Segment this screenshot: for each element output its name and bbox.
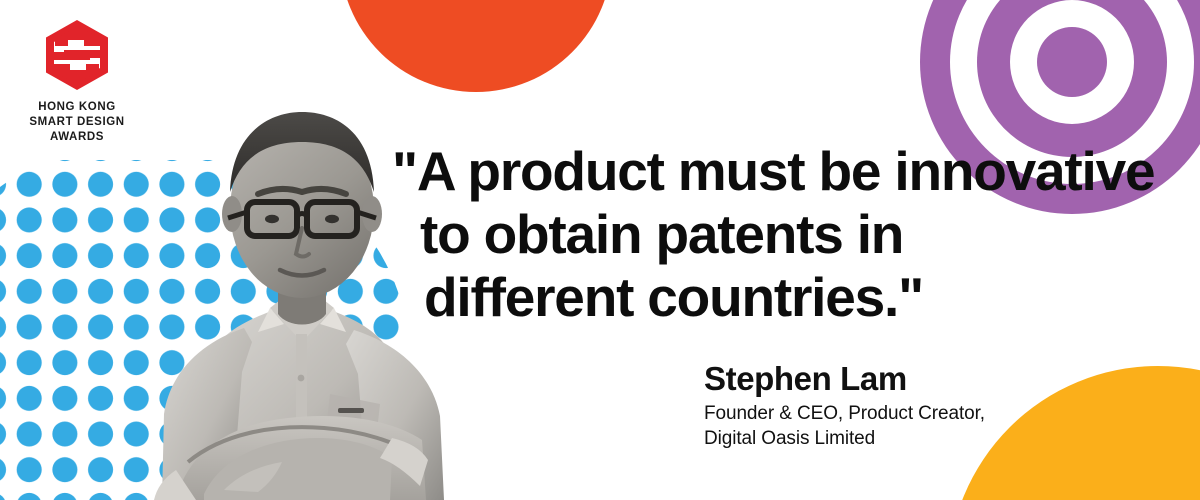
yellow-circle [948, 366, 1200, 500]
quote-line-2: to obtain patents in [392, 203, 1182, 266]
speaker-role-line-2: Digital Oasis Limited [704, 426, 985, 451]
logo-block: HONG KONG SMART DESIGN AWARDS [18, 18, 136, 145]
quote-text: "A product must be innovative to obtain … [392, 140, 1182, 329]
hk-smart-design-awards-logo-icon [40, 18, 114, 92]
logo-wordmark: HONG KONG SMART DESIGN AWARDS [18, 100, 136, 145]
logo-line-2: SMART DESIGN [18, 115, 136, 130]
speaker-role-line-1: Founder & CEO, Product Creator, [704, 401, 985, 426]
attribution-block: Stephen Lam Founder & CEO, Product Creat… [704, 360, 985, 451]
quote-line-3: different countries." [392, 266, 1182, 329]
logo-line-3: AWARDS [18, 130, 136, 145]
speaker-name: Stephen Lam [704, 360, 985, 398]
quote-line-1: "A product must be innovative [392, 140, 1182, 203]
quote-banner: HONG KONG SMART DESIGN AWARDS "A product… [0, 0, 1200, 500]
logo-line-1: HONG KONG [18, 100, 136, 115]
